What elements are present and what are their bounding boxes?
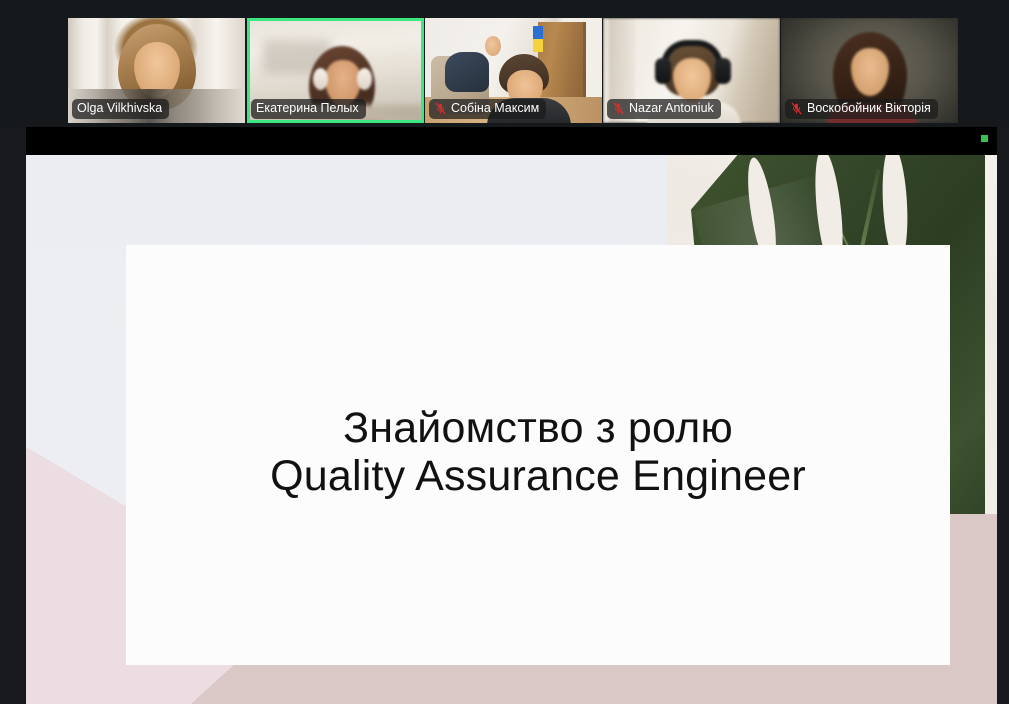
presentation-slide: Знайомство з ролю Quality Assurance Engi… bbox=[26, 155, 997, 704]
microphone-muted-icon bbox=[434, 101, 447, 116]
scene-hand bbox=[485, 36, 501, 56]
shared-screen-area[interactable]: Знайомство з ролю Quality Assurance Engi… bbox=[26, 127, 997, 704]
participant-name-badge: Olga Vilkhivska bbox=[72, 99, 169, 119]
scene-jacket bbox=[445, 52, 489, 92]
participant-tile-nazar-antoniuk[interactable]: Nazar Antoniuk bbox=[603, 18, 780, 123]
scene-face bbox=[134, 42, 180, 98]
scene-headphone-right bbox=[715, 58, 731, 84]
participant-tile-voskoboinyk-viktoriia[interactable]: Воскобойник Вікторія bbox=[781, 18, 958, 123]
left-gutter bbox=[0, 127, 26, 704]
participant-name-label: Екатерина Пелых bbox=[256, 101, 359, 116]
scene-door-edge bbox=[583, 22, 586, 98]
microphone-muted-icon bbox=[790, 101, 803, 116]
participant-name-label: Воскобойник Вікторія bbox=[807, 101, 931, 116]
participant-name-label: Собіна Максим bbox=[451, 101, 539, 116]
scene-flag bbox=[533, 26, 543, 52]
microphone-muted-icon bbox=[612, 101, 625, 116]
scene-headphone-right bbox=[357, 68, 372, 90]
slide-content-card: Знайомство з ролю Quality Assurance Engi… bbox=[126, 245, 950, 665]
participant-tile-ekaterina-pelykh[interactable]: Екатерина Пелых bbox=[247, 18, 424, 123]
scene-headphone-left bbox=[655, 58, 671, 84]
participant-name-label: Olga Vilkhivska bbox=[77, 101, 162, 116]
participant-name-badge: Собіна Максим bbox=[429, 99, 546, 119]
participant-name-badge: Екатерина Пелых bbox=[251, 99, 366, 119]
participant-name-badge: Nazar Antoniuk bbox=[607, 99, 721, 119]
letterbox-bar bbox=[26, 127, 997, 155]
participant-tile-olga-vilkhivska[interactable]: Olga Vilkhivska bbox=[68, 18, 245, 123]
participant-tile-sobina-maksym[interactable]: Собіна Максим bbox=[425, 18, 602, 123]
scene-headphone-left bbox=[313, 68, 328, 90]
slide-title: Знайомство з ролю Quality Assurance Engi… bbox=[270, 404, 806, 506]
participant-name-label: Nazar Antoniuk bbox=[629, 101, 714, 116]
participant-filmstrip: Olga Vilkhivska Екатерина Пелых bbox=[0, 0, 1009, 127]
right-gutter bbox=[997, 127, 1009, 704]
participant-name-badge: Воскобойник Вікторія bbox=[785, 99, 938, 119]
recording-dot-icon bbox=[981, 135, 988, 142]
meeting-window: Olga Vilkhivska Екатерина Пелых bbox=[0, 0, 1009, 704]
